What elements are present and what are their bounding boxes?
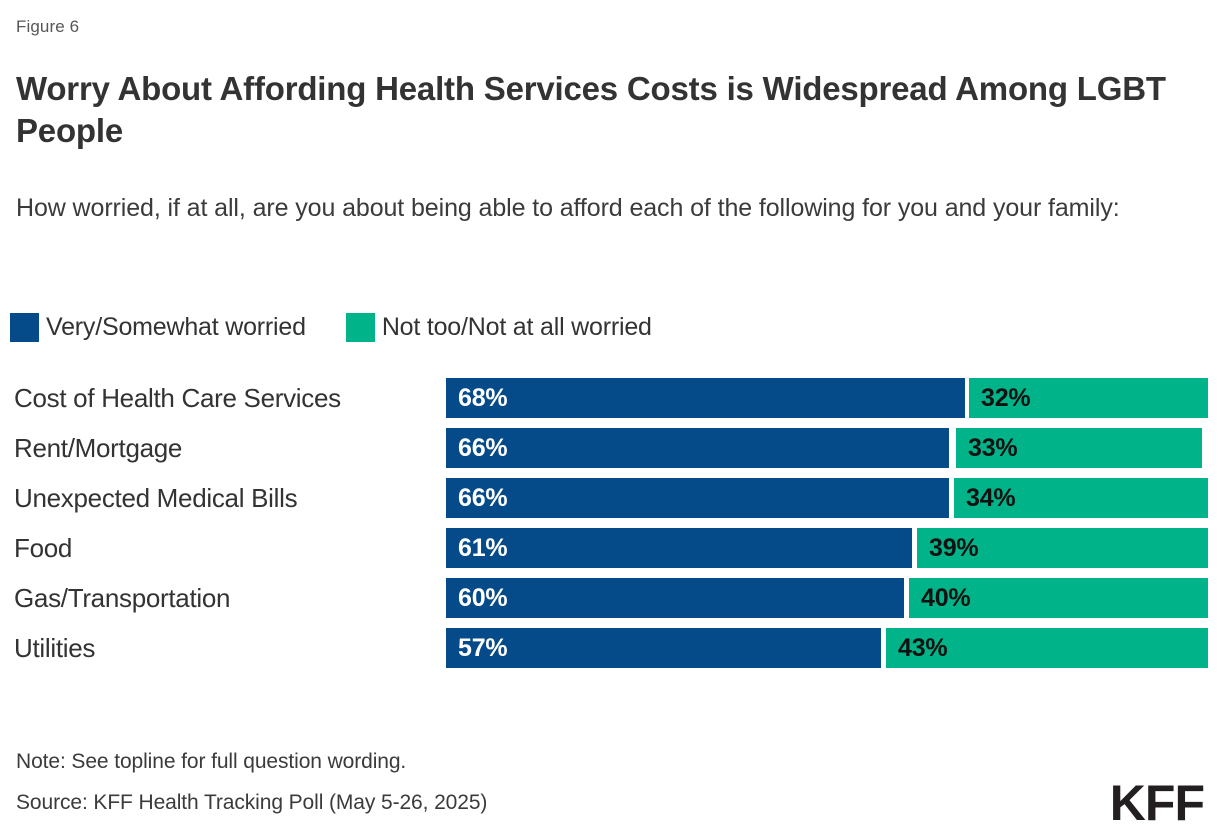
bar-segment-worried[interactable]: 61%	[446, 528, 912, 568]
bar-value-not-worried: 34%	[966, 478, 1015, 518]
bar-track: 61% 39%	[446, 528, 1208, 568]
bar-value-worried: 57%	[458, 628, 507, 668]
bar-row[interactable]: Food 61% 39%	[0, 528, 1220, 568]
bar-value-worried: 66%	[458, 478, 507, 518]
bar-segment-not-worried[interactable]: 43%	[886, 628, 1208, 668]
chart-note: Note: See topline for full question word…	[16, 750, 406, 774]
bar-row[interactable]: Utilities 57% 43%	[0, 628, 1220, 668]
bar-value-not-worried: 43%	[898, 628, 947, 668]
bar-value-worried: 66%	[458, 428, 507, 468]
bar-segment-worried[interactable]: 68%	[446, 378, 965, 418]
bar-segment-not-worried[interactable]: 32%	[969, 378, 1208, 418]
bar-segment-worried[interactable]: 57%	[446, 628, 881, 668]
bar-row-category-label: Cost of Health Care Services	[14, 378, 341, 418]
chart-legend: Very/Somewhat worried Not too/Not at all…	[10, 307, 652, 347]
bar-track: 68% 32%	[446, 378, 1208, 418]
figure-canvas: Figure 6 Worry About Affording Health Se…	[0, 0, 1220, 836]
bar-row[interactable]: Cost of Health Care Services 68% 32%	[0, 378, 1220, 418]
bar-row[interactable]: Gas/Transportation 60% 40%	[0, 578, 1220, 618]
bar-segment-worried[interactable]: 66%	[446, 478, 949, 518]
bar-track: 66% 34%	[446, 478, 1208, 518]
bar-segment-not-worried[interactable]: 40%	[909, 578, 1208, 618]
bar-value-not-worried: 33%	[968, 428, 1017, 468]
bar-row-category-label: Food	[14, 528, 72, 568]
bar-value-not-worried: 39%	[929, 528, 978, 568]
bar-segment-not-worried[interactable]: 34%	[954, 478, 1208, 518]
legend-label-not-worried: Not too/Not at all worried	[382, 313, 652, 342]
bar-value-worried: 68%	[458, 378, 507, 418]
chart-title: Worry About Affording Health Services Co…	[16, 68, 1196, 152]
bar-segment-worried[interactable]: 60%	[446, 578, 904, 618]
chart-source: Source: KFF Health Tracking Poll (May 5-…	[16, 791, 487, 815]
bar-row[interactable]: Rent/Mortgage 66% 33%	[0, 428, 1220, 468]
legend-swatch-green-icon	[346, 313, 375, 342]
bar-track: 57% 43%	[446, 628, 1208, 668]
chart-subtitle: How worried, if at all, are you about be…	[16, 192, 1191, 226]
legend-item-worried[interactable]: Very/Somewhat worried	[10, 307, 306, 347]
bar-value-worried: 61%	[458, 528, 507, 568]
bar-segment-not-worried[interactable]: 33%	[956, 428, 1202, 468]
bar-segment-worried[interactable]: 66%	[446, 428, 949, 468]
bar-row-category-label: Gas/Transportation	[14, 578, 230, 618]
legend-swatch-blue-icon	[10, 313, 39, 342]
bar-track: 60% 40%	[446, 578, 1208, 618]
figure-number-label: Figure 6	[16, 17, 79, 37]
bar-value-not-worried: 32%	[981, 378, 1030, 418]
legend-item-not-worried[interactable]: Not too/Not at all worried	[346, 307, 652, 347]
bar-value-not-worried: 40%	[921, 578, 970, 618]
bar-segment-not-worried[interactable]: 39%	[917, 528, 1208, 568]
bar-chart-plot-area: Cost of Health Care Services 68% 32% Ren…	[0, 376, 1220, 676]
bar-row-category-label: Rent/Mortgage	[14, 428, 182, 468]
bar-row-category-label: Unexpected Medical Bills	[14, 478, 297, 518]
bar-value-worried: 60%	[458, 578, 507, 618]
bar-row[interactable]: Unexpected Medical Bills 66% 34%	[0, 478, 1220, 518]
bar-row-category-label: Utilities	[14, 628, 95, 668]
legend-label-worried: Very/Somewhat worried	[46, 313, 306, 342]
kff-logo: KFF	[1110, 778, 1204, 828]
bar-track: 66% 33%	[446, 428, 1208, 468]
